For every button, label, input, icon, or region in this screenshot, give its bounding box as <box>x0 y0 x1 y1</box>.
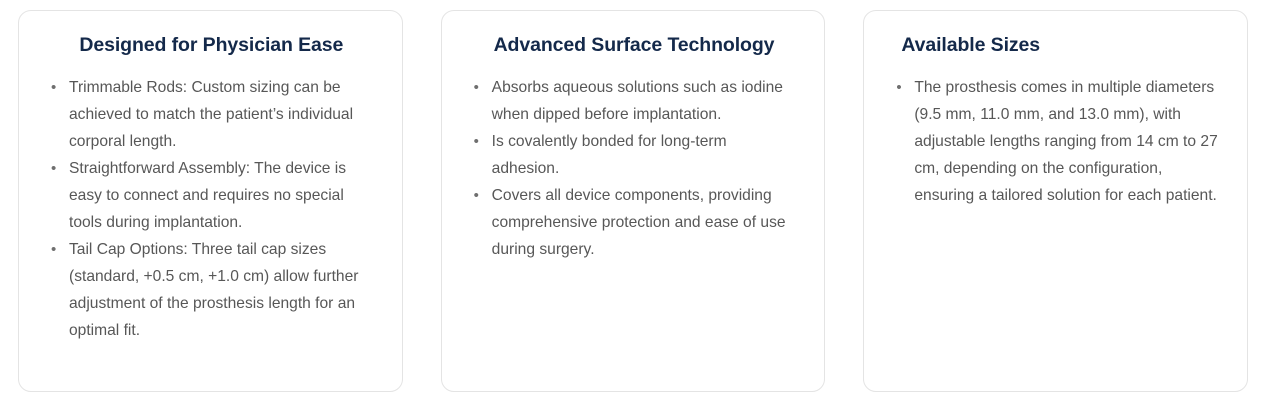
feature-card-designed-for-physician-ease: Designed for Physician Ease Trimmable Ro… <box>18 10 403 392</box>
card-title: Available Sizes <box>894 33 1219 58</box>
list-item: Absorbs aqueous solutions such as iodine… <box>472 74 797 128</box>
list-item: Covers all device components, providing … <box>472 182 797 263</box>
card-bullet-list: Absorbs aqueous solutions such as iodine… <box>472 74 797 263</box>
card-title: Advanced Surface Technology <box>472 33 797 58</box>
card-bullet-list: Trimmable Rods: Custom sizing can be ach… <box>49 74 374 344</box>
list-item: Tail Cap Options: Three tail cap sizes (… <box>49 236 374 344</box>
feature-card-available-sizes: Available Sizes The prosthesis comes in … <box>863 10 1248 392</box>
list-item: Trimmable Rods: Custom sizing can be ach… <box>49 74 374 155</box>
list-item: Straightforward Assembly: The device is … <box>49 155 374 236</box>
card-bullet-list: The prosthesis comes in multiple diamete… <box>894 74 1219 209</box>
card-title: Designed for Physician Ease <box>49 33 374 58</box>
feature-cards-row: Designed for Physician Ease Trimmable Ro… <box>0 0 1264 402</box>
list-item: The prosthesis comes in multiple diamete… <box>894 74 1219 209</box>
list-item: Is covalently bonded for long-term adhes… <box>472 128 797 182</box>
feature-card-advanced-surface-technology: Advanced Surface Technology Absorbs aque… <box>441 10 826 392</box>
